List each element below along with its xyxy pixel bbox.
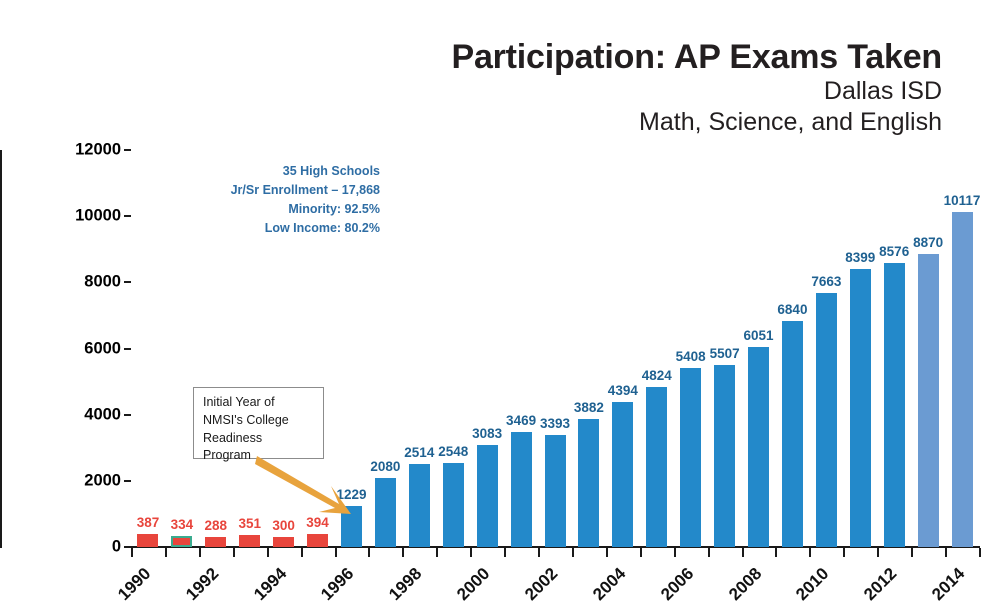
x-axis-tick <box>979 548 981 557</box>
bar-value-label-2008: 6051 <box>743 328 773 343</box>
bar-value-label-2005: 4824 <box>642 368 672 383</box>
y-axis-tick-label: 2000 <box>84 471 121 490</box>
x-axis-tick <box>267 548 269 557</box>
x-axis-tick <box>708 548 710 557</box>
bar-value-label-2003: 3882 <box>574 400 604 415</box>
x-axis-tick <box>504 548 506 557</box>
stats-line-2: Jr/Sr Enrollment – 17,868 <box>185 181 380 200</box>
y-axis-line <box>0 150 2 548</box>
bar-1995[interactable] <box>307 534 328 547</box>
bar-2004[interactable] <box>612 402 633 547</box>
x-axis-tick <box>674 548 676 557</box>
bar-value-label-1990: 387 <box>137 515 160 530</box>
bar-value-label-2004: 4394 <box>608 383 638 398</box>
x-axis-tick <box>131 548 133 557</box>
bar-value-label-2001: 3469 <box>506 413 536 428</box>
x-axis-tick <box>775 548 777 557</box>
y-axis-tick-label: 6000 <box>84 339 121 358</box>
bar-value-label-2011: 8399 <box>845 250 875 265</box>
bar-value-label-2009: 6840 <box>777 302 807 317</box>
callout-line-1: Initial Year of <box>203 394 315 412</box>
y-axis-tick <box>124 348 131 350</box>
bar-value-label-2002: 3393 <box>540 416 570 431</box>
bar-value-label-1998: 2514 <box>404 445 434 460</box>
x-axis-tick <box>301 548 303 557</box>
x-axis-tick <box>335 548 337 557</box>
x-axis-tick <box>809 548 811 557</box>
y-axis-tick-label: 10000 <box>75 207 121 226</box>
x-axis-tick <box>368 548 370 557</box>
bar-value-label-1991: 334 <box>171 517 194 532</box>
x-axis-tick <box>470 548 472 557</box>
callout-line-2: NMSI's College <box>203 412 315 430</box>
y-axis-tick-label: 8000 <box>84 273 121 292</box>
bar-value-label-2012: 8576 <box>879 244 909 259</box>
callout-arrow-icon <box>255 452 365 522</box>
y-axis-tick <box>124 546 131 548</box>
bar-2014[interactable] <box>952 212 973 547</box>
bar-2011[interactable] <box>850 269 871 547</box>
bar-2002[interactable] <box>545 435 566 547</box>
x-axis-tick <box>945 548 947 557</box>
stats-annotation: 35 High SchoolsJr/Sr Enrollment – 17,868… <box>185 162 380 238</box>
x-axis-tick <box>742 548 744 557</box>
page-title: Participation: AP Exams Taken <box>302 38 942 76</box>
stats-line-1: 35 High Schools <box>185 162 380 181</box>
x-axis-tick <box>538 548 540 557</box>
y-axis-tick <box>124 480 131 482</box>
x-axis-tick <box>572 548 574 557</box>
bar-2013[interactable] <box>918 254 939 547</box>
x-axis-tick <box>877 548 879 557</box>
bar-2009[interactable] <box>782 321 803 547</box>
y-axis-tick-label: 12000 <box>75 141 121 160</box>
y-axis-tick <box>124 149 131 151</box>
bar-1993[interactable] <box>239 535 260 547</box>
bar-1994[interactable] <box>273 537 294 547</box>
x-axis-tick <box>436 548 438 557</box>
stats-line-4: Low Income: 80.2% <box>185 219 380 238</box>
bar-value-label-1999: 2548 <box>438 444 468 459</box>
bar-1999[interactable] <box>443 463 464 547</box>
bar-2005[interactable] <box>646 387 667 547</box>
bar-1997[interactable] <box>375 478 396 547</box>
chart-page: Participation: AP Exams Taken Dallas ISD… <box>0 0 1000 605</box>
x-axis-tick <box>640 548 642 557</box>
bar-1990[interactable] <box>137 534 158 547</box>
bar-2001[interactable] <box>511 432 532 547</box>
x-axis-tick <box>402 548 404 557</box>
bar-2000[interactable] <box>477 445 498 547</box>
x-axis-tick <box>233 548 235 557</box>
x-axis-tick <box>843 548 845 557</box>
bar-value-label-2006: 5408 <box>676 349 706 364</box>
y-axis-tick-label: 4000 <box>84 405 121 424</box>
subtitle-subjects: Math, Science, and English <box>302 107 942 138</box>
bar-value-label-2014: 10117 <box>944 193 981 208</box>
y-axis-tick-label: 0 <box>112 538 121 557</box>
bar-value-label-1992: 288 <box>205 518 228 533</box>
bar-1991[interactable] <box>171 536 192 547</box>
bar-2007[interactable] <box>714 365 735 547</box>
callout-box: Initial Year ofNMSI's CollegeReadinessPr… <box>193 387 324 459</box>
subtitle-district: Dallas ISD <box>302 76 942 107</box>
x-axis-tick <box>911 548 913 557</box>
bar-2010[interactable] <box>816 293 837 547</box>
bar-1998[interactable] <box>409 464 430 547</box>
bar-value-label-2010: 7663 <box>811 274 841 289</box>
y-axis-tick <box>124 281 131 283</box>
callout-line-3: Readiness <box>203 430 315 448</box>
y-axis-tick <box>124 215 131 217</box>
bar-2006[interactable] <box>680 368 701 547</box>
x-axis-tick <box>606 548 608 557</box>
bar-2003[interactable] <box>578 419 599 547</box>
bar-value-label-2007: 5507 <box>710 346 740 361</box>
bar-2008[interactable] <box>748 347 769 547</box>
bar-2012[interactable] <box>884 263 905 547</box>
y-axis-tick <box>124 414 131 416</box>
bar-1992[interactable] <box>205 537 226 547</box>
bar-value-label-2000: 3083 <box>472 426 502 441</box>
bar-value-label-2013: 8870 <box>913 235 943 250</box>
title-block: Participation: AP Exams Taken Dallas ISD… <box>302 38 942 137</box>
stats-line-3: Minority: 92.5% <box>185 200 380 219</box>
bar-value-label-1997: 2080 <box>370 459 400 474</box>
x-axis-tick <box>165 548 167 557</box>
x-axis-tick <box>199 548 201 557</box>
